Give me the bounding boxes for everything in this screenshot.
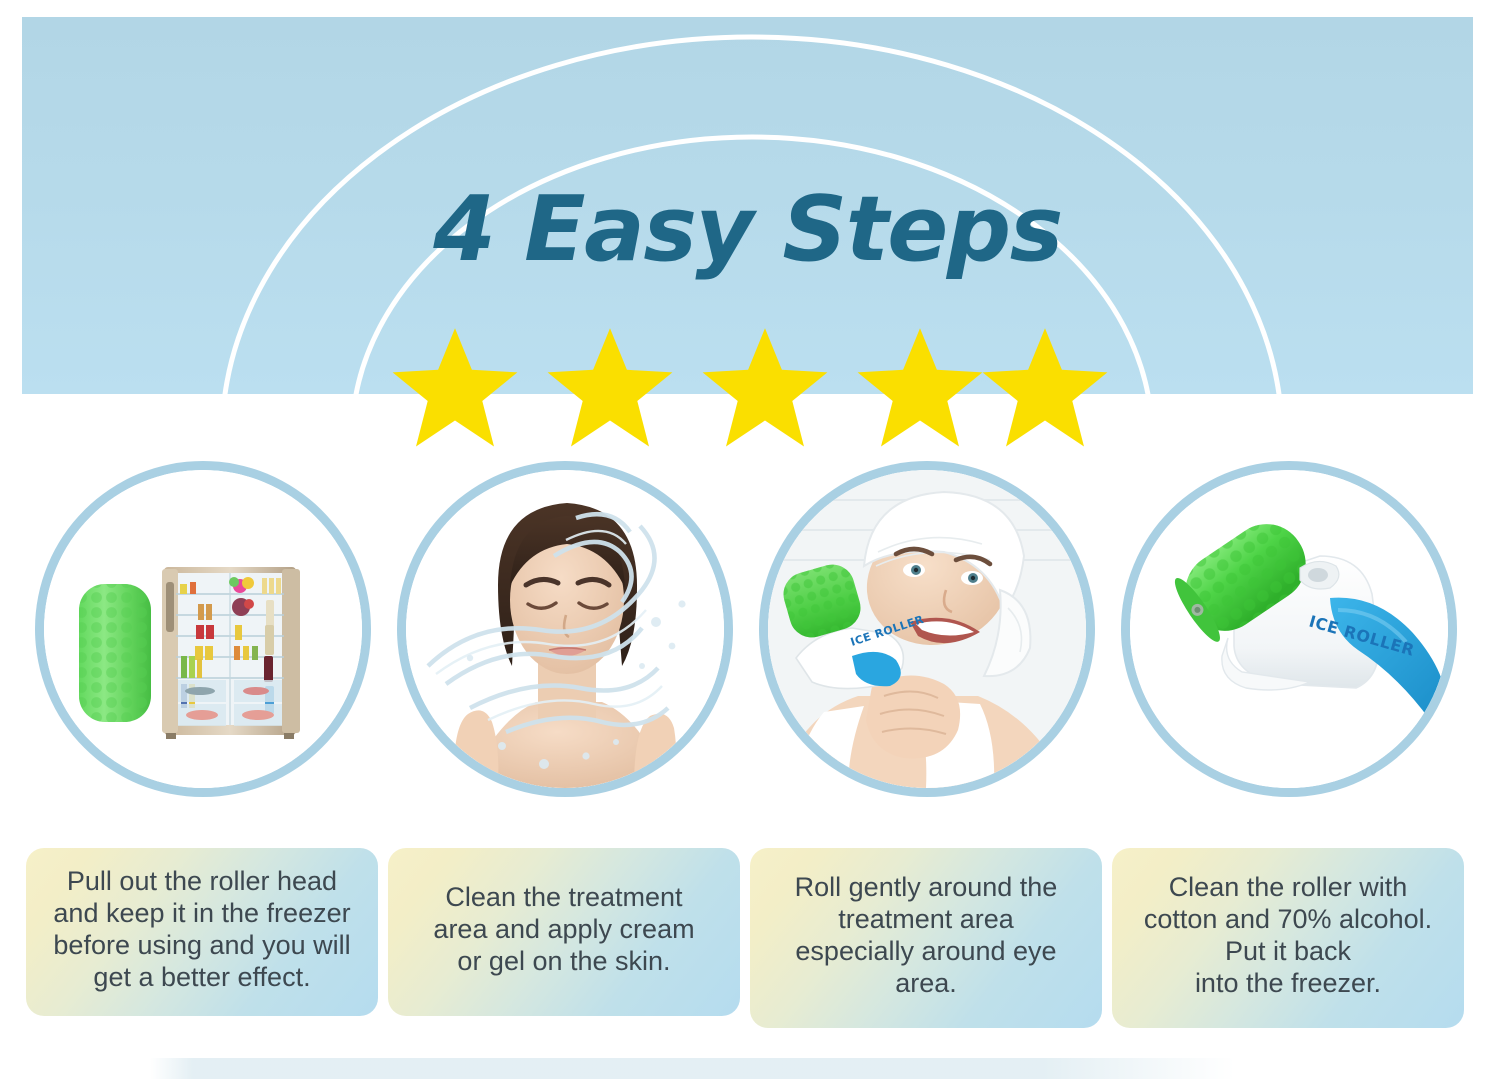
step-2-caption-card: Clean the treatment area and apply cream…: [388, 848, 740, 1016]
step-4-caption-card: Clean the roller with cotton and 70% alc…: [1112, 848, 1464, 1028]
top-white-strip: [0, 0, 1500, 17]
step-1-caption: Pull out the roller head and keep it in …: [36, 866, 368, 993]
step-4-image-frame: ICE ROLLER: [1130, 470, 1448, 788]
step-1-image-frame: [44, 470, 362, 788]
woman-using-ice-roller-photo: ICE ROLLER: [768, 470, 1086, 788]
step-2: Clean the treatment area and apply cream…: [382, 470, 747, 788]
bottom-accent-bar: [150, 1058, 1235, 1079]
step-3-image-frame: ICE ROLLER: [768, 470, 1086, 788]
steps-row: Pull out the roller head and keep it in …: [0, 470, 1500, 1070]
step-2-image-frame: [406, 470, 724, 788]
step-3-caption-card: Roll gently around the treatment area es…: [750, 848, 1102, 1028]
page-title: 4 Easy Steps: [22, 185, 1473, 275]
step-3: ICE ROLLER Roll gently around the treatm…: [744, 470, 1109, 788]
step-1-caption-card: Pull out the roller head and keep it in …: [26, 848, 378, 1016]
step-4-caption: Clean the roller with cotton and 70% alc…: [1122, 872, 1454, 999]
step-3-caption: Roll gently around the treatment area es…: [760, 872, 1092, 999]
step-1: Pull out the roller head and keep it in …: [20, 470, 385, 788]
ice-roller-product-photo: ICE ROLLER: [1130, 470, 1448, 788]
step-4: ICE ROLLER Clean the roller with cotton …: [1106, 470, 1471, 788]
header-banner: 4 Easy Steps: [22, 17, 1473, 394]
infographic-page: 4 Easy Steps: [0, 0, 1500, 1079]
step-2-caption: Clean the treatment area and apply cream…: [398, 882, 730, 978]
green-roller-head-and-refrigerator-photo: [44, 470, 362, 788]
woman-washing-face-photo: [406, 470, 724, 788]
